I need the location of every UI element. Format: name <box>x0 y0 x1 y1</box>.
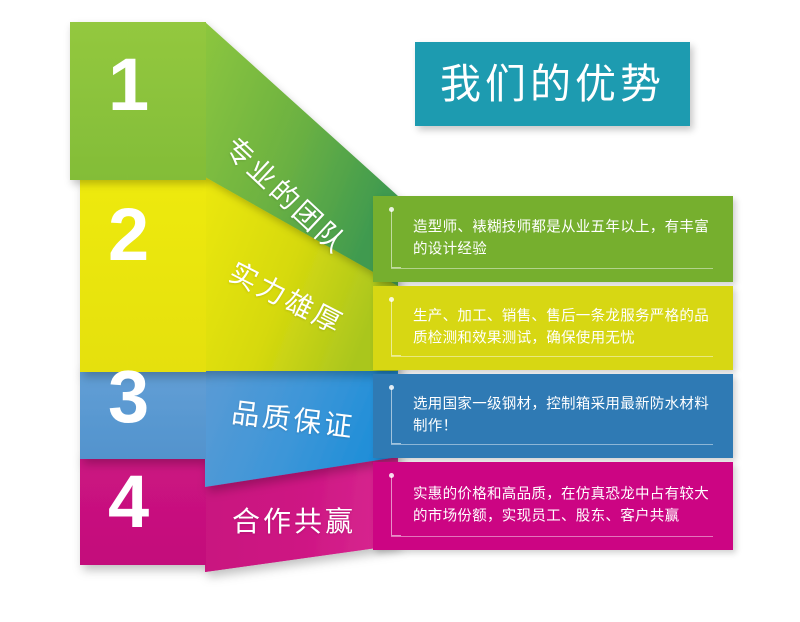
page-title: 我们的优势 <box>440 64 665 105</box>
band-3-description: 选用国家一级钢材，控制箱采用最新防水材料制作！ <box>413 394 713 439</box>
bracket-underline <box>391 268 713 269</box>
band-4-slogan: 合作共赢 <box>232 500 356 540</box>
band-3-number: 3 <box>108 360 149 434</box>
bracket-underline <box>391 444 713 445</box>
band-2-description: 生产、加工、销售、售后一条龙服务严格的品质检测和效果测试，确保使用无忧 <box>413 306 713 351</box>
band-3-panel: 选用国家一级钢材，控制箱采用最新防水材料制作！ <box>373 374 733 458</box>
band-1-panel: 造型师、裱糊技师都是从业五年以上，有丰富的设计经验 <box>373 196 733 282</box>
title-banner: 我们的优势 <box>415 42 690 126</box>
bracket-marker-icon <box>391 476 401 536</box>
band-1-description: 造型师、裱糊技师都是从业五年以上，有丰富的设计经验 <box>413 217 713 262</box>
bracket-marker-icon <box>391 300 401 356</box>
bracket-underline <box>391 536 713 537</box>
infographic-canvas: 我们的优势 1 2 3 4 专业的团队 实力雄厚 品质保证 合作共赢 造型师、裱… <box>0 0 800 622</box>
bracket-marker-icon <box>391 388 401 444</box>
band-4-panel: 实惠的价格和高品质，在仿真恐龙中占有较大的市场份额，实现员工、股东、客户共赢 <box>373 462 733 550</box>
band-2-number: 2 <box>108 198 149 272</box>
band-2-panel: 生产、加工、销售、售后一条龙服务严格的品质检测和效果测试，确保使用无忧 <box>373 286 733 370</box>
band-1-number: 1 <box>108 48 149 122</box>
bracket-marker-icon <box>391 210 401 268</box>
band-4-number: 4 <box>108 465 149 539</box>
band-4-description: 实惠的价格和高品质，在仿真恐龙中占有较大的市场份额，实现员工、股东、客户共赢 <box>413 484 713 529</box>
bracket-underline <box>391 356 713 357</box>
